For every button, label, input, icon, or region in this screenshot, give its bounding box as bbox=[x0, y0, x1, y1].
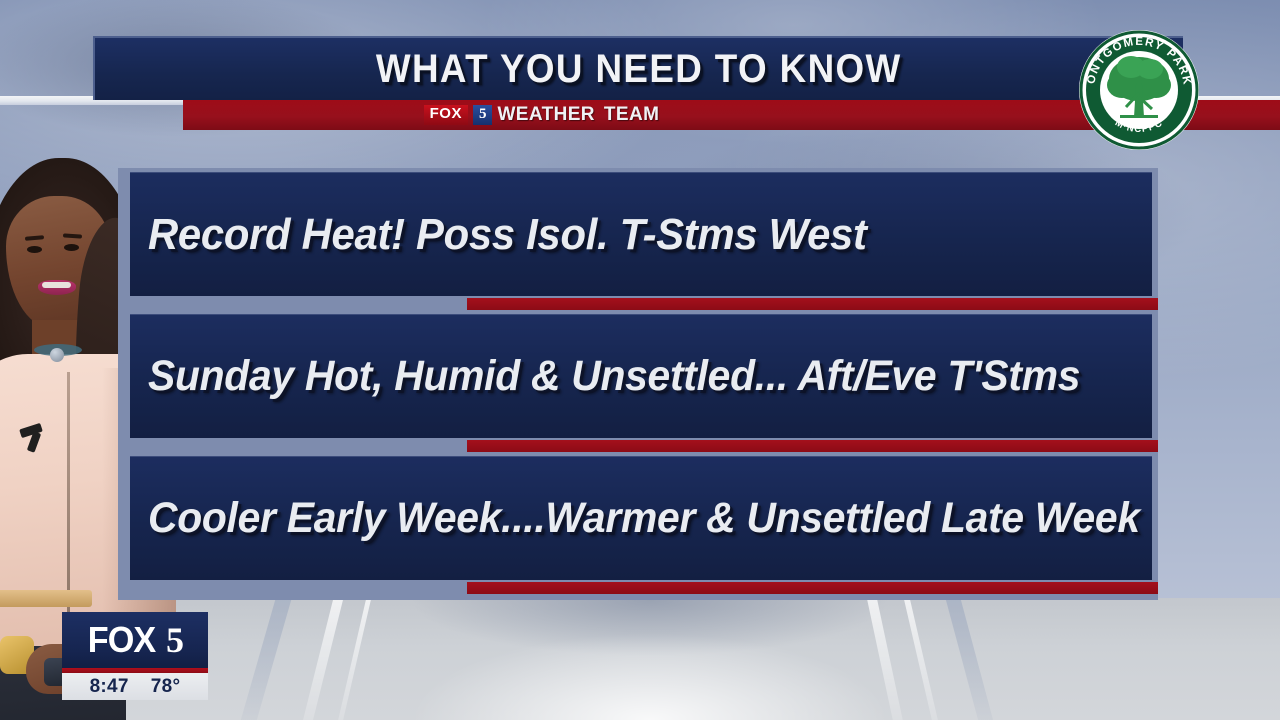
divider-red-accent bbox=[467, 582, 1158, 594]
eye bbox=[27, 246, 42, 253]
station-bug-logo: FOX 5 bbox=[62, 612, 208, 668]
gold-belt bbox=[0, 590, 92, 607]
headline-text: Sunday Hot, Humid & Unsettled... Aft/Eve… bbox=[148, 352, 1080, 401]
bug-channel-number: 5 bbox=[166, 619, 184, 661]
headlines-panel: Record Heat! Poss Isol. T-Stms West Sund… bbox=[118, 168, 1158, 600]
headline-row-1: Record Heat! Poss Isol. T-Stms West bbox=[130, 172, 1152, 296]
headline-row-wrapper: Sunday Hot, Humid & Unsettled... Aft/Eve… bbox=[130, 314, 1158, 438]
row-divider-bottom bbox=[130, 580, 1158, 598]
subbanner-word-team: TEAM bbox=[604, 104, 659, 126]
station-bug: FOX 5 8:47 78° bbox=[62, 612, 208, 700]
headline-text: Cooler Early Week....Warmer & Unsettled … bbox=[148, 494, 1140, 543]
bug-info-strip: 8:47 78° bbox=[62, 673, 208, 700]
zipper bbox=[67, 372, 70, 622]
row-divider bbox=[130, 296, 1158, 314]
eye bbox=[64, 244, 79, 251]
parks-logo-svg: MONTGOMERY PARKS M·NCPPC bbox=[1076, 27, 1202, 153]
channel-5-logo: 5 bbox=[473, 105, 493, 125]
clock-time: 8:47 bbox=[90, 676, 129, 698]
divider-red-accent bbox=[467, 440, 1158, 452]
divider-red-accent bbox=[467, 298, 1158, 310]
headline-row-2: Sunday Hot, Humid & Unsettled... Aft/Eve… bbox=[130, 314, 1152, 438]
headline-row-wrapper: Cooler Early Week....Warmer & Unsettled … bbox=[130, 456, 1158, 580]
subbanner-word-weather: WEATHER bbox=[497, 104, 594, 126]
headline-row-wrapper: Record Heat! Poss Isol. T-Stms West bbox=[130, 172, 1158, 296]
subbanner-content: FOX 5 WEATHER TEAM bbox=[424, 104, 660, 126]
header-banner: WHAT YOU NEED TO KNOW bbox=[93, 36, 1183, 100]
current-temperature: 78° bbox=[151, 676, 181, 698]
row-divider bbox=[130, 438, 1158, 456]
fox-logo-text: FOX bbox=[424, 105, 468, 125]
necklace-pendant bbox=[50, 348, 64, 362]
page-title: WHAT YOU NEED TO KNOW bbox=[376, 47, 902, 92]
montgomery-parks-logo: MONTGOMERY PARKS M·NCPPC bbox=[1076, 27, 1202, 153]
teeth bbox=[42, 282, 71, 288]
bug-fox-text: FOX bbox=[88, 619, 155, 661]
headline-row-3: Cooler Early Week....Warmer & Unsettled … bbox=[130, 456, 1152, 580]
headline-text: Record Heat! Poss Isol. T-Stms West bbox=[148, 210, 867, 260]
